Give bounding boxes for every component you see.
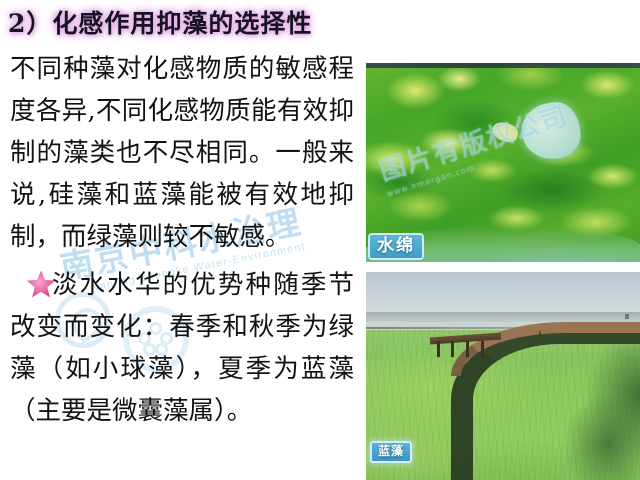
paragraph-seasonal-wrapper: 淡水水华的优势种随季节改变而变化：春季和秋季为绿藻（如小球藻），夏季为蓝藻（主要… (0, 264, 360, 432)
page-title: 2）化感作用抑藻的选择性 (8, 4, 312, 40)
photo-top-edge (366, 63, 640, 68)
star-icon (26, 270, 56, 299)
photo-caption-cyanobacteria: 蓝藻 (370, 441, 412, 463)
shore-grass (539, 331, 557, 339)
body-text-column: 不同种藻对化感物质的敏感程度各异,不同化感物质能有效抑制的藻类也不尽相同。一般来… (0, 48, 360, 432)
pier-piling (466, 341, 469, 357)
slide-canvas: 南京中科水治理 Nanjing Zhongke Water-Environmen… (0, 0, 640, 480)
pier-piling (481, 341, 484, 357)
pier-piling (437, 341, 440, 357)
paragraph-seasonal: 淡水水华的优势种随季节改变而变化：春季和秋季为绿藻（如小球藻），夏季为蓝藻（主要… (10, 270, 354, 426)
horizon-haze (366, 312, 640, 322)
distant-boat-icon (625, 314, 629, 319)
photo-caption-spirogyra: 水绵 (368, 233, 424, 260)
pier-piling (451, 341, 454, 357)
paragraph-sensitivity: 不同种藻对化感物质的敏感程度各异,不同化感物质能有效抑制的藻类也不尽相同。一般来… (0, 48, 360, 258)
